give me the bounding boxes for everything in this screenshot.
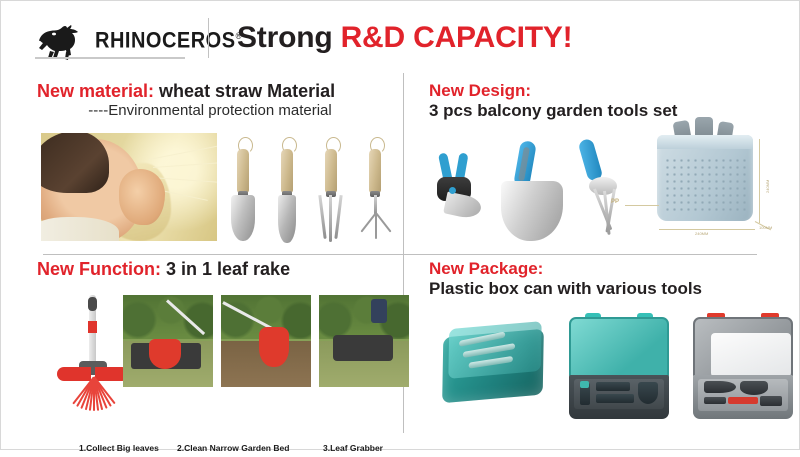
case-tool (596, 382, 630, 391)
quadrant-new-material: New material: wheat straw Material ----E… (37, 81, 397, 251)
wheat-field-photo (41, 133, 217, 241)
function-caption-row: 1.Collect Big leaves 2.Clean Narrow Gard… (79, 443, 397, 457)
tool-case-closed-teal (433, 311, 551, 419)
new-design-heading: New Design: 3 pcs balcony garden tools s… (429, 81, 793, 122)
function-photo-3 (319, 295, 409, 387)
new-material-subtitle: ----Environmental protection material (37, 102, 397, 119)
person-hand (119, 169, 165, 225)
photo-rake-red-part (149, 339, 181, 369)
rake-grip (88, 297, 97, 311)
case-tool (760, 396, 782, 406)
rhinoceros-logo-icon (33, 21, 91, 61)
new-design-label-red: New Design: (429, 81, 793, 101)
quadrant-new-design: New Design: 3 pcs balcony garden tools s… (429, 81, 793, 251)
cultivator-blue-handle (578, 138, 604, 183)
fork-tine (334, 195, 342, 239)
straw-handle (325, 149, 337, 193)
quadrant-new-function: New Function: 3 in 1 leaf rake (37, 259, 397, 435)
caption-1: 1.Collect Big leaves (79, 443, 159, 453)
straw-handle (281, 149, 293, 193)
product-trowel (499, 141, 569, 243)
trowel-scoop (501, 181, 563, 241)
new-material-label-red: New material: (37, 81, 154, 101)
tool-hand-fork (313, 135, 349, 247)
case-tool (469, 356, 513, 369)
caption-2: 2.Clean Narrow Garden Bed (177, 443, 289, 453)
new-material-label-dark: wheat straw Material (154, 81, 335, 101)
person-hair (41, 133, 109, 193)
trowel-blade (231, 195, 255, 241)
case-tool-red (728, 397, 758, 404)
product-pruner (435, 153, 483, 225)
new-package-label-dark: Plastic box can with various tools (429, 279, 793, 299)
dimension-label-depth: 100MM (759, 225, 772, 230)
tool-cultivator (357, 135, 393, 247)
slide-canvas: RHINOCEROS® Strong R&D CAPACITY! New mat… (0, 0, 800, 450)
quadrant-new-package: New Package: Plastic box can with variou… (429, 259, 793, 435)
case-lid (693, 317, 793, 377)
new-function-media: 1.Collect Big leaves 2.Clean Narrow Gard… (37, 293, 397, 435)
material-leader-line (625, 205, 659, 206)
horizontal-divider (43, 254, 757, 255)
basket-mesh (664, 157, 746, 213)
function-photo-2 (221, 295, 311, 387)
new-material-media (41, 133, 397, 245)
dimension-label-width: 240MM (695, 231, 708, 236)
function-photo-1 (123, 295, 213, 387)
fork-tine (318, 195, 326, 239)
new-package-heading: New Package: Plastic box can with variou… (429, 259, 793, 300)
straw-handle (369, 149, 381, 193)
header-divider (208, 18, 209, 58)
basket-rim (657, 135, 753, 149)
case-tool (596, 394, 634, 403)
wheat-straw-tool-row (225, 131, 397, 247)
photo-rake-red-part (259, 327, 289, 367)
case-tool (704, 381, 736, 393)
case-lid (448, 321, 541, 379)
logo-underline (35, 57, 185, 59)
pruner-pivot (449, 187, 456, 194)
cultivator-claw (375, 213, 377, 239)
fork-tine (329, 195, 332, 242)
product-cultivator (579, 139, 657, 243)
rake-wing (57, 367, 91, 381)
dimension-line-height (759, 139, 760, 223)
dimension-label-height: 240MM (765, 180, 770, 193)
case-tool-grip (580, 381, 589, 388)
title-part-dark: Strong (237, 21, 341, 54)
tool-case-open-teal (563, 311, 675, 423)
new-function-label-red: New Function: (37, 259, 161, 279)
caption-3: 3.Leaf Grabber (323, 443, 383, 453)
storage-basket (657, 135, 753, 221)
new-function-label-dark: 3 in 1 leaf rake (161, 259, 290, 279)
case-tool (704, 397, 726, 404)
pruner-blade (443, 191, 483, 220)
new-function-heading: New Function: 3 in 1 leaf rake (37, 259, 397, 279)
case-foam-tray (698, 379, 788, 411)
tool-transplanter (269, 135, 305, 247)
dimension-line-width (659, 229, 755, 230)
tool-case-open-gray (687, 311, 799, 423)
new-package-label-red: New Package: (429, 259, 793, 279)
case-foam-tray (574, 379, 664, 409)
case-lid-panel (711, 333, 791, 377)
slide-header: RHINOCEROS® Strong R&D CAPACITY! (1, 1, 799, 71)
new-design-media: 240MM 240MM 100MM PP (429, 133, 793, 253)
straw-handle (237, 149, 249, 193)
rake-band (88, 321, 97, 333)
page-title: Strong R&D CAPACITY! (237, 21, 572, 55)
case-tool (459, 331, 506, 346)
brand-name: RHINOCEROS® (95, 28, 242, 54)
case-lid (569, 317, 669, 377)
tool-trowel (225, 135, 261, 247)
wheat-awn (153, 162, 217, 168)
case-tool (638, 382, 658, 404)
title-part-red: R&D CAPACITY! (341, 21, 573, 54)
transplanter-blade (278, 195, 296, 243)
photo-foliage (319, 295, 409, 339)
cultivator-claw (375, 212, 391, 232)
new-material-heading: New material: wheat straw Material (37, 81, 397, 101)
material-label-pp: PP (611, 199, 619, 205)
photo-grabber (333, 335, 393, 361)
new-package-media (429, 311, 793, 431)
wheat-awn (149, 145, 217, 160)
photo-person-arm (371, 299, 387, 323)
case-tool (740, 381, 768, 395)
